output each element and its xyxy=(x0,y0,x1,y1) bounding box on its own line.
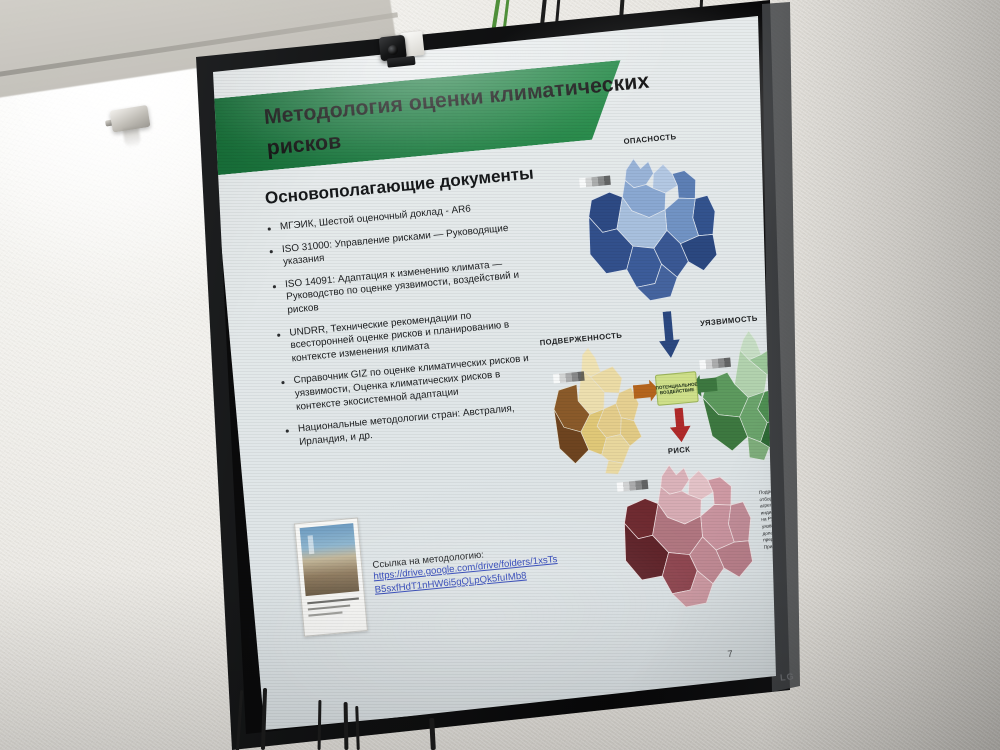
risk-label: РИСК xyxy=(667,444,690,455)
webcam xyxy=(378,29,428,72)
document-list: МГЭИК, Шестой оценочный доклад - AR6 ISO… xyxy=(267,198,546,460)
webcam-lens-icon xyxy=(387,45,398,56)
hazard-label: ОПАСНОСТЬ xyxy=(623,132,677,146)
potential-impact-box: ПОТЕНЦИАЛЬНОЕ ВОЗДЕЙСТВИЕ xyxy=(655,371,699,406)
exposure-map-svg xyxy=(538,340,665,483)
hazard-map xyxy=(571,146,739,315)
hazard-map-svg xyxy=(571,146,739,315)
arrow-down-icon xyxy=(655,310,682,360)
arrow-impact-to-risk xyxy=(667,407,693,449)
photo-scene: Методология оценки климатических рисков … xyxy=(0,0,1000,750)
arrow-hazard-down xyxy=(655,310,682,365)
exposure-map xyxy=(538,340,665,483)
arrow-down-icon xyxy=(667,407,693,444)
vulnerability-label: УЯЗВИМОСТЬ xyxy=(700,313,758,328)
webcam-clip xyxy=(387,56,416,68)
wall-shadow-bottom xyxy=(0,570,1000,750)
